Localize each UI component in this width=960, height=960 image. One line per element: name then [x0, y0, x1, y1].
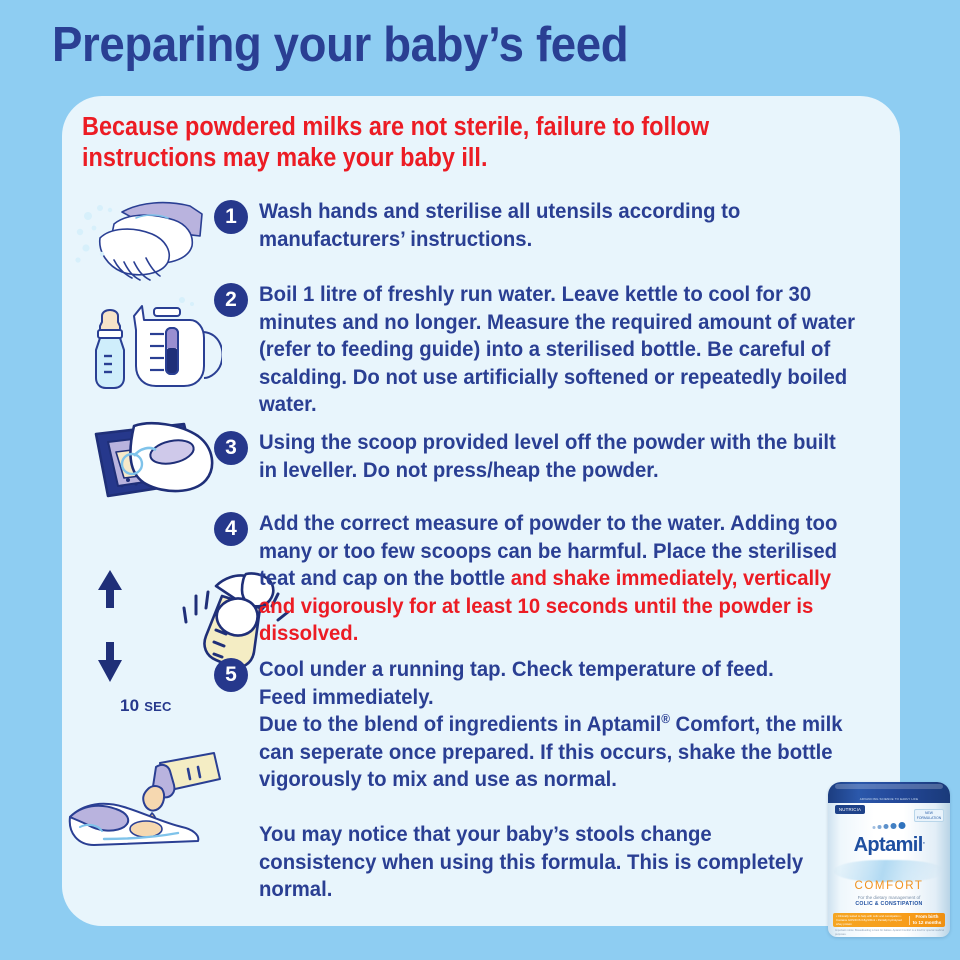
- step-2: 2 Boil 1 litre of freshly run water. Lea…: [214, 281, 894, 419]
- product-tin-image: ADVANCING SCIENCE TO EARLY LIFE NUTRICIA…: [828, 782, 950, 937]
- step-5-badge: 5: [214, 658, 248, 692]
- tin-subtitle: For the dietary management of: [828, 895, 950, 900]
- shake-duration-value: 10: [120, 696, 139, 715]
- tin-lid-highlight: [835, 784, 942, 789]
- step-5-text: Cool under a running tap. Check temperat…: [259, 656, 859, 794]
- step-4-badge: 4: [214, 512, 248, 546]
- nutricia-logo: NUTRICIA: [835, 805, 865, 814]
- shake-duration-arrows-icon: [84, 566, 132, 686]
- step-5-line-3: Due to the blend of ingredients in Aptam…: [259, 711, 859, 794]
- step-3: 3 Using the scoop provided level off the…: [214, 429, 894, 484]
- tin-orange-band: • Clinically tested to help with colic a…: [833, 913, 945, 927]
- poster-root: Preparing your baby’s feed Because powde…: [0, 0, 960, 960]
- tin-lid: ADVANCING SCIENCE TO EARLY LIFE: [828, 782, 950, 803]
- registered-trademark-icon: ®: [661, 712, 670, 726]
- step-5: 5 Cool under a running tap. Check temper…: [214, 656, 894, 794]
- tin-bullets: • Clinically tested to help with colic a…: [833, 914, 909, 926]
- step-3-text: Using the scoop provided level off the p…: [259, 429, 859, 484]
- step-5-line-1: Cool under a running tap. Check temperat…: [259, 656, 859, 684]
- tin-brand-text: Aptamil: [854, 834, 923, 856]
- page-title: Preparing your baby’s feed: [52, 14, 628, 76]
- step-2-badge: 2: [214, 283, 248, 317]
- tin-body: ADVANCING SCIENCE TO EARLY LIFE NUTRICIA…: [828, 782, 950, 937]
- tin-new-formulation-flag: NEW FORMULATION: [914, 809, 944, 822]
- step-2-text: Boil 1 litre of freshly run water. Leave…: [259, 281, 859, 419]
- temperature-test-illustration: [64, 751, 224, 851]
- scoop-levelling-illustration: [88, 418, 228, 502]
- step-1-badge: 1: [214, 200, 248, 234]
- washing-hands-illustration: [70, 194, 210, 286]
- tin-condition: COLIC & CONSTIPATION: [828, 901, 950, 907]
- tin-brand-name: Aptamil.: [828, 834, 950, 857]
- tin-age-line-2: to 12 months: [909, 920, 945, 926]
- step-1-text: Wash hands and sterilise all utensils ac…: [259, 198, 840, 253]
- tin-age-range: From birth to 12 months: [909, 914, 945, 926]
- tin-variant-name: COMFORT: [828, 880, 950, 892]
- tin-footnote: Important notice: Breastfeeding is best …: [833, 929, 945, 936]
- warning-text: Because powdered milks are not sterile, …: [82, 112, 818, 174]
- step-5-line-2: Feed immediately.: [259, 684, 859, 712]
- step-4-text: Add the correct measure of powder to the…: [259, 510, 859, 648]
- instructions-card: Because powdered milks are not sterile, …: [62, 96, 900, 926]
- step-1: 1 Wash hands and sterilise all utensils …: [214, 198, 874, 253]
- step-3-badge: 3: [214, 431, 248, 465]
- step-4: 4 Add the correct measure of powder to t…: [214, 510, 894, 648]
- tin-flag-line-2: FORMULATION: [917, 816, 941, 820]
- tin-lid-tagline: ADVANCING SCIENCE TO EARLY LIFE: [828, 797, 950, 801]
- closing-note: You may notice that your baby’s stools c…: [259, 821, 826, 904]
- tin-swoosh-graphic: [834, 860, 944, 882]
- tin-brand-mark: .: [923, 835, 925, 845]
- shake-duration-label: 10 SEC: [120, 696, 172, 716]
- step-5-brand-prefix: Due to the blend of ingredients in Aptam…: [259, 712, 661, 736]
- shake-duration-unit: SEC: [144, 699, 171, 714]
- aptamil-dots-icon: [873, 822, 906, 829]
- kettle-and-bottle-illustration: [72, 294, 222, 394]
